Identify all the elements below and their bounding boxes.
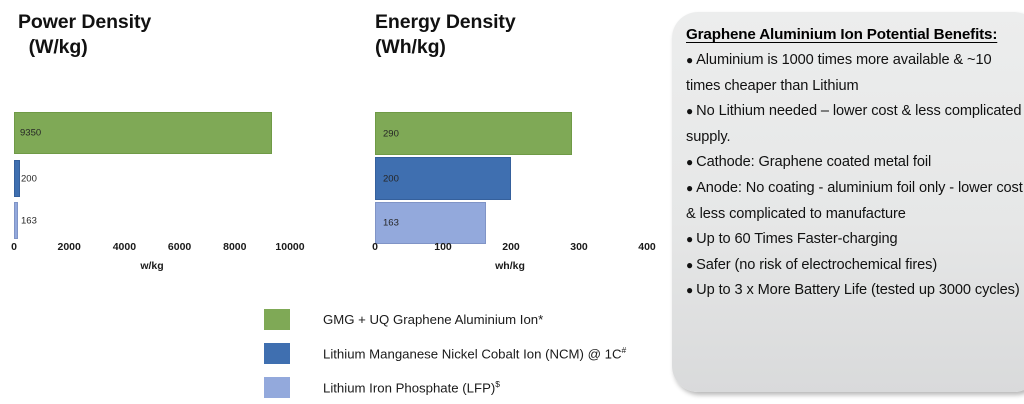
bar-row: 200 <box>375 157 647 200</box>
bar-power-graphene <box>14 112 272 154</box>
axis-tick: 0 <box>11 241 17 253</box>
axis-tick: 4000 <box>113 241 136 253</box>
chart-energy-density-title: Energy Density(Wh/kg) <box>360 0 680 60</box>
axis-tick: 0 <box>372 241 378 253</box>
legend-label-text: GMG + UQ Graphene Aluminium Ion* <box>323 312 543 327</box>
chart-power-density-axis-caption: w/kg <box>140 260 163 272</box>
bullet-icon: ● <box>686 155 693 169</box>
bullet-icon: ● <box>686 104 693 118</box>
axis-tick: 100 <box>434 241 452 253</box>
chart-energy-density-title-line2: (Wh/kg) <box>375 36 446 58</box>
legend-label: Lithium Iron Phosphate (LFP)$ <box>323 379 500 395</box>
bar-energy-graphene <box>375 112 572 155</box>
chart-power-density-title-line2: (W/kg) <box>18 36 88 58</box>
bar-row: 290 <box>375 112 647 155</box>
bullet-icon: ● <box>686 283 693 297</box>
axis-tick: 400 <box>638 241 656 253</box>
bar-energy-ncm <box>375 157 511 200</box>
axis-tick: 10000 <box>275 241 304 253</box>
chart-power-density-x-axis: 0 2000 4000 6000 8000 10000 <box>14 241 290 257</box>
legend-label-text: Lithium Iron Phosphate (LFP) <box>323 380 495 395</box>
bar-row: 200 <box>14 160 290 197</box>
benefit-text: Anode: No coating - aluminium foil only … <box>686 180 1023 222</box>
legend-label-superscript: # <box>622 345 627 355</box>
benefit-list-item: ●Up to 60 Times Faster-charging <box>686 227 1024 253</box>
benefit-text: Up to 60 Times Faster-charging <box>696 231 897 247</box>
chart-energy-density-plot: 290 200 163 <box>375 112 647 237</box>
legend-label-text: Lithium Manganese Nickel Cobalt Ion (NCM… <box>323 346 622 361</box>
chart-energy-density-axis-caption: wh/kg <box>495 260 525 272</box>
legend-item-graphene: GMG + UQ Graphene Aluminium Ion* <box>264 302 664 336</box>
legend-swatch-icon <box>264 343 290 364</box>
bullet-icon: ● <box>686 53 693 67</box>
benefit-text: Aluminium is 1000 times more available &… <box>686 52 991 94</box>
benefit-list-item: ●Aluminium is 1000 times more available … <box>686 48 1024 99</box>
chart-energy-density-x-axis: 0 100 200 300 400 <box>375 241 647 257</box>
slide-root: Power Density (W/kg) 9350 200 163 0 2000… <box>0 0 1024 404</box>
axis-tick: 200 <box>502 241 520 253</box>
chart-legend: GMG + UQ Graphene Aluminium Ion* Lithium… <box>264 302 664 404</box>
legend-item-lfp: Lithium Iron Phosphate (LFP)$ <box>264 370 664 404</box>
legend-label-superscript: $ <box>495 379 500 389</box>
bar-row: 9350 <box>14 112 290 154</box>
legend-label: GMG + UQ Graphene Aluminium Ion* <box>323 312 543 327</box>
axis-tick: 2000 <box>58 241 81 253</box>
legend-swatch-icon <box>264 377 290 398</box>
legend-item-ncm: Lithium Manganese Nickel Cobalt Ion (NCM… <box>264 336 664 370</box>
bar-label: 163 <box>21 215 37 226</box>
axis-tick: 8000 <box>223 241 246 253</box>
legend-swatch-icon <box>264 309 290 330</box>
bar-label: 200 <box>21 173 37 184</box>
benefit-text: Cathode: Graphene coated metal foil <box>696 154 931 170</box>
axis-tick: 300 <box>570 241 588 253</box>
chart-power-density-title: Power Density (W/kg) <box>0 0 340 60</box>
chart-energy-density-title-line1: Energy Density <box>375 11 516 33</box>
chart-power-density-plot: 9350 200 163 <box>14 110 290 236</box>
benefit-list-item: ●No Lithium needed – lower cost & less c… <box>686 99 1024 150</box>
benefit-text: Up to 3 x More Battery Life (tested up 3… <box>696 282 1019 298</box>
bar-row: 163 <box>14 202 290 239</box>
benefit-text: No Lithium needed – lower cost & less co… <box>686 103 1021 145</box>
benefit-list-item: ●Safer (no risk of electrochemical fires… <box>686 253 1024 279</box>
legend-label: Lithium Manganese Nickel Cobalt Ion (NCM… <box>323 345 626 361</box>
chart-power-density-title-line1: Power Density <box>18 11 151 33</box>
chart-power-density: Power Density (W/kg) 9350 200 163 0 2000… <box>0 0 340 300</box>
bullet-icon: ● <box>686 181 693 195</box>
benefit-list-item: ●Up to 3 x More Battery Life (tested up … <box>686 278 1024 304</box>
bar-energy-lfp <box>375 202 486 244</box>
bullet-icon: ● <box>686 258 693 272</box>
benefit-list-item: ●Anode: No coating - aluminium foil only… <box>686 176 1024 227</box>
axis-tick: 6000 <box>168 241 191 253</box>
bar-row: 163 <box>375 202 647 244</box>
benefits-panel: Graphene Aluminium Ion Potential Benefit… <box>672 12 1024 392</box>
benefits-panel-title: Graphene Aluminium Ion Potential Benefit… <box>686 26 1024 43</box>
benefit-list-item: ●Cathode: Graphene coated metal foil <box>686 150 1024 176</box>
benefit-text: Safer (no risk of electrochemical fires) <box>696 257 937 273</box>
chart-energy-density: Energy Density(Wh/kg) 290 200 163 0 100 … <box>360 0 680 300</box>
bullet-icon: ● <box>686 232 693 246</box>
bar-power-lfp <box>14 202 18 239</box>
bar-power-ncm <box>14 160 20 197</box>
